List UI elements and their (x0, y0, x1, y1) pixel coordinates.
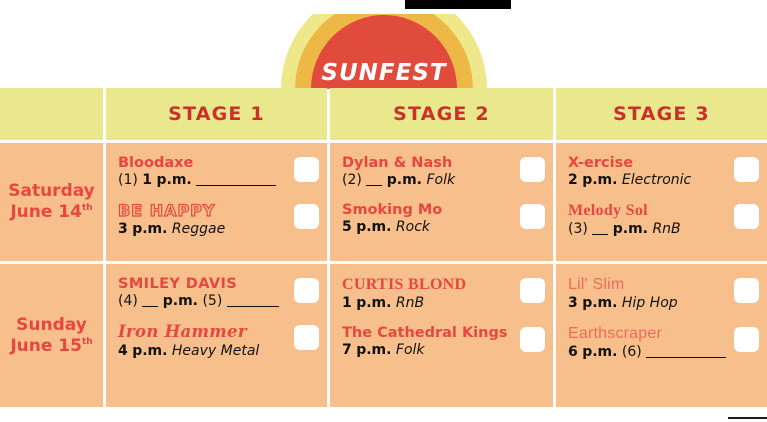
act-genre: RnB (652, 221, 680, 237)
table-row: Sunday June 15th SMILEY DAVIS(4) p.m. (5… (0, 264, 767, 407)
act-time-genre: 6 p.m. (6) (568, 344, 723, 361)
pm-label: p.m. (356, 295, 391, 311)
act-checkbox[interactable] (520, 157, 545, 182)
act-time: 3 (118, 221, 128, 237)
gap-number: (4) (118, 293, 138, 309)
act-checkbox[interactable] (734, 204, 759, 229)
act-checkbox[interactable] (734, 327, 759, 352)
act-genre: Electronic (622, 172, 691, 188)
act-time-genre: (2) p.m. Folk (342, 172, 509, 189)
act-time: 4 (118, 343, 128, 359)
day-name: Sunday (16, 314, 87, 334)
act-time-genre: 2 p.m. Electronic (568, 172, 723, 189)
cell-sun-stage-3: Lil' Slim3 p.m. Hip HopEarthscraper6 p.m… (556, 264, 767, 407)
act-time-genre: (4) p.m. (5) (118, 293, 283, 310)
act-name: BE HAPPY (118, 202, 283, 220)
act-name: The Cathedral Kings (342, 325, 509, 341)
pm-label: p.m. (356, 219, 391, 235)
act-time-genre: 3 p.m. Reggae (118, 221, 283, 238)
genre-blank[interactable] (196, 185, 276, 186)
sunfest-logo: SUNFEST (255, 14, 513, 89)
pm-label: p.m. (613, 221, 648, 237)
act-genre: RnB (396, 295, 424, 311)
cell-sat-stage-2: Dylan & Nash(2) p.m. FolkSmoking Mo5 p.m… (330, 143, 553, 261)
act-checkbox[interactable] (734, 278, 759, 303)
act-name: SMILEY DAVIS (118, 276, 283, 292)
day-date: June 14 (10, 202, 82, 222)
header-stage-1: STAGE 1 (106, 88, 327, 140)
act-entry: Lil' Slim3 p.m. Hip Hop (568, 276, 767, 312)
act-time-genre: (1) 1 p.m. (118, 172, 283, 189)
act-time: 5 (342, 219, 352, 235)
act-entry: Iron Hammer4 p.m. Heavy Metal (118, 323, 327, 359)
act-name: Bloodaxe (118, 155, 283, 171)
day-name: Saturday (8, 181, 95, 201)
act-checkbox[interactable] (734, 157, 759, 182)
stage-3-label: STAGE 3 (556, 103, 767, 125)
act-time-genre: 4 p.m. Heavy Metal (118, 343, 283, 360)
act-entry: Dylan & Nash(2) p.m. Folk (342, 155, 553, 189)
act-name: Lil' Slim (568, 276, 723, 294)
act-genre: Heavy Metal (172, 343, 259, 359)
act-genre: Folk (396, 342, 425, 358)
pm-label: p.m. (163, 293, 198, 309)
act-checkbox[interactable] (294, 204, 319, 229)
act-entry: BE HAPPY3 p.m. Reggae (118, 202, 327, 238)
genre-blank[interactable] (646, 357, 726, 358)
act-name: Earthscraper (568, 325, 723, 343)
act-genre: Rock (396, 219, 430, 235)
pm-label: p.m. (132, 343, 167, 359)
act-entry: Bloodaxe(1) 1 p.m. (118, 155, 327, 189)
day-date: June 15 (10, 336, 82, 356)
act-time: 1 (142, 172, 152, 188)
table-row: Saturday June 14th Bloodaxe(1) 1 p.m. BE… (0, 143, 767, 261)
cell-sun-stage-2: CURTIS BLOND1 p.m. RnBThe Cathedral King… (330, 264, 553, 407)
act-time-genre: 1 p.m. RnB (342, 295, 509, 312)
stage-1-label: STAGE 1 (106, 103, 327, 125)
time-blank[interactable] (366, 185, 382, 186)
act-name: X-ercise (568, 155, 723, 171)
act-time-genre: 5 p.m. Rock (342, 219, 509, 236)
act-time: 1 (342, 295, 352, 311)
act-name: Dylan & Nash (342, 155, 509, 171)
act-entry: Smoking Mo5 p.m. Rock (342, 202, 553, 236)
pm-label: p.m. (157, 172, 192, 188)
act-time-genre: 3 p.m. Hip Hop (568, 295, 723, 312)
act-entry: CURTIS BLOND1 p.m. RnB (342, 276, 553, 312)
act-name: CURTIS BLOND (342, 276, 509, 294)
gap-number: (1) (118, 172, 138, 188)
pm-label: p.m. (132, 221, 167, 237)
act-genre: Reggae (172, 221, 225, 237)
day-label: Sunday June 15th (0, 314, 103, 357)
header-day-cell (0, 88, 103, 140)
schedule-table: STAGE 1 STAGE 2 STAGE 3 Saturday June 14… (0, 88, 767, 419)
day-cell-sunday: Sunday June 15th (0, 264, 103, 407)
act-entry: Earthscraper6 p.m. (6) (568, 325, 767, 361)
act-genre: Folk (426, 172, 455, 188)
time-blank[interactable] (142, 306, 158, 307)
act-time: 7 (342, 342, 352, 358)
table-header-row: STAGE 1 STAGE 2 STAGE 3 (0, 88, 767, 140)
cell-sun-stage-1: SMILEY DAVIS(4) p.m. (5) Iron Hammer4 p.… (106, 264, 327, 407)
pm-label: p.m. (582, 172, 617, 188)
header-stage-3: STAGE 3 (556, 88, 767, 140)
pm-label: p.m. (356, 342, 391, 358)
cell-sat-stage-3: X-ercise2 p.m. ElectronicMelody Sol(3) p… (556, 143, 767, 261)
act-checkbox[interactable] (294, 325, 319, 350)
act-time: 3 (568, 295, 578, 311)
act-time-genre: 7 p.m. Folk (342, 342, 509, 359)
act-checkbox[interactable] (520, 327, 545, 352)
pm-label: p.m. (582, 344, 617, 360)
day-cell-saturday: Saturday June 14th (0, 143, 103, 261)
act-checkbox[interactable] (520, 278, 545, 303)
gap-number: (5) (202, 293, 222, 309)
header-stage-2: STAGE 2 (330, 88, 553, 140)
gap-number: (3) (568, 221, 588, 237)
pm-label: p.m. (582, 295, 617, 311)
act-checkbox[interactable] (294, 157, 319, 182)
gap-number: (6) (622, 344, 642, 360)
cell-sat-stage-1: Bloodaxe(1) 1 p.m. BE HAPPY3 p.m. Reggae (106, 143, 327, 261)
day-date-suffix: th (82, 203, 93, 213)
act-genre: Hip Hop (622, 295, 678, 311)
stage-2-label: STAGE 2 (330, 103, 553, 125)
act-entry: The Cathedral Kings7 p.m. Folk (342, 325, 553, 359)
day-label: Saturday June 14th (0, 181, 103, 224)
act-time-genre: (3) p.m. RnB (568, 221, 723, 238)
redaction-bar (405, 0, 511, 9)
act-name: Smoking Mo (342, 202, 509, 218)
logo-text: SUNFEST (255, 62, 513, 85)
act-time: 6 (568, 344, 578, 360)
act-time: 2 (568, 172, 578, 188)
act-name: Melody Sol (568, 202, 723, 220)
act-checkbox[interactable] (520, 204, 545, 229)
act-entry: SMILEY DAVIS(4) p.m. (5) (118, 276, 327, 310)
gap-number: (2) (342, 172, 362, 188)
pm-label: p.m. (387, 172, 422, 188)
genre-blank[interactable] (227, 306, 279, 307)
time-blank[interactable] (592, 234, 608, 235)
day-date-suffix: th (82, 337, 93, 347)
act-checkbox[interactable] (294, 278, 319, 303)
act-name: Iron Hammer (118, 323, 283, 341)
act-entry: X-ercise2 p.m. Electronic (568, 155, 767, 189)
act-entry: Melody Sol(3) p.m. RnB (568, 202, 767, 238)
